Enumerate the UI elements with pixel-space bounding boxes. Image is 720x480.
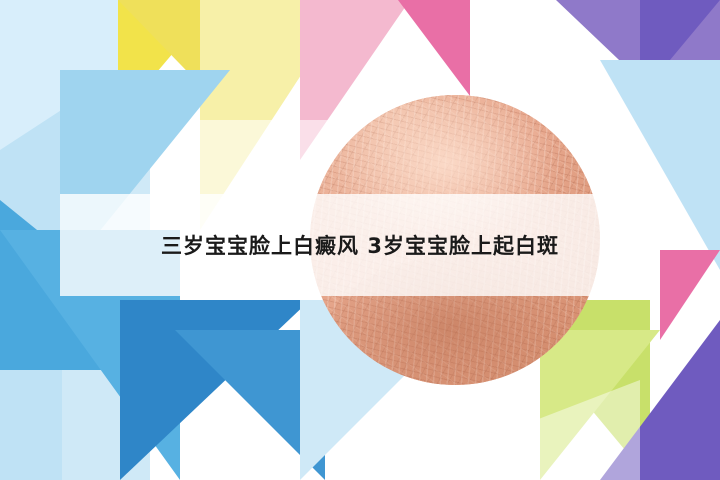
caption-text: 三岁宝宝脸上白癜风 3岁宝宝脸上起白斑 xyxy=(161,230,559,260)
banner-image: 三岁宝宝脸上白癜风 3岁宝宝脸上起白斑 xyxy=(0,0,720,480)
magenta-sliver-right xyxy=(660,250,720,340)
caption-band: 三岁宝宝脸上白癜风 3岁宝宝脸上起白斑 xyxy=(60,194,660,296)
white-diagonal-overlay-bottom xyxy=(380,380,640,480)
